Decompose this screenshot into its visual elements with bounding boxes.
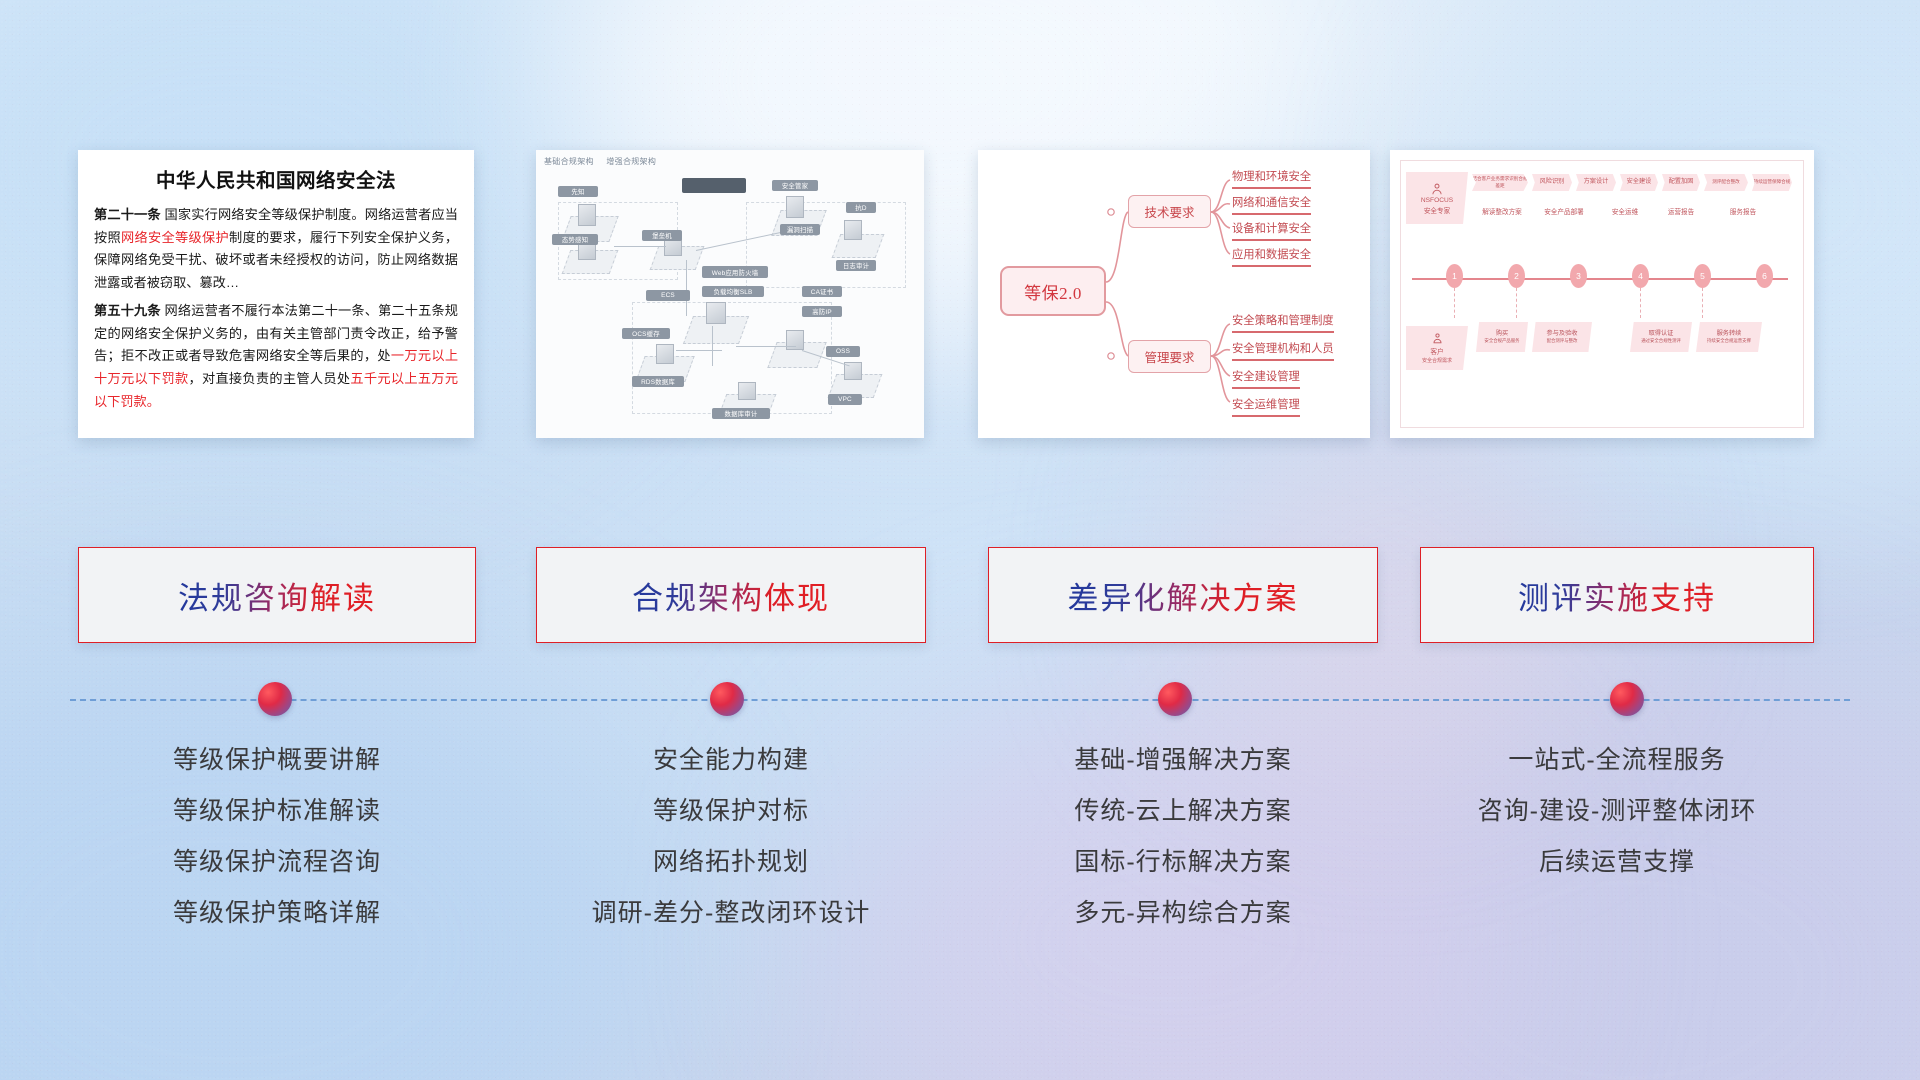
roadmap-stage-label: 解读整改方案 [1474,206,1530,216]
architecture-zone [746,202,906,288]
roadmap-bottom-tag-sub: 通过安全合规性测评 [1641,338,1681,344]
architecture-header-left: 基础合规架构 [544,157,594,166]
roadmap-expert-role: 安全专家 [1424,205,1450,215]
architecture-node: OSS [826,346,860,357]
architecture-node-icon [738,382,756,400]
timeline-dot-3[interactable] [1158,682,1192,716]
roadmap-expert-badge: NSFOCUS 安全专家 [1406,172,1468,224]
architecture-header-right: 增强合规架构 [606,157,656,166]
pillar-title-2: 合规架构体现 [632,573,830,618]
roadmap-expert-brand: NSFOCUS [1421,197,1453,204]
roadmap-chevron: 配置加固 [1662,174,1700,191]
law-article-21-label: 第二十一条 [94,207,161,222]
list-item: 等级保护策略详解 [78,901,476,926]
mindmap-branch-technical: 技术要求 [1128,195,1211,228]
architecture-node: Web应用防火墙 [702,266,768,278]
roadmap-bottom-tag-title: 取得认证 [1649,330,1674,339]
architecture-node: 安全管家 [772,180,818,191]
pillar-list-4: 一站式-全流程服务 咨询-建设-测评整体闭环 后续运营支撑 [1420,748,1814,901]
list-item: 调研-差分-整改闭环设计 [536,901,926,926]
architecture-node-icon [706,302,726,324]
pillar-title-box-3[interactable]: 差异化解决方案 [988,547,1378,643]
roadmap-step-number: 3 [1570,264,1587,288]
roadmap-chevron: 测评配合整改 [1704,174,1748,191]
roadmap-stage-label: 运营报告 [1658,206,1704,216]
list-item: 咨询-建设-测评整体闭环 [1420,799,1814,824]
roadmap-bottom-tag: 服务转续 持续安全合规运营支撑 [1696,322,1762,352]
timeline-dot-4[interactable] [1610,682,1644,716]
roadmap-step-number: 4 [1632,264,1649,288]
architecture-node: VPC [828,394,862,405]
roadmap-bottom-tag-title: 参与及验收 [1547,330,1578,339]
card-mindmap-dengbao[interactable]: 等保2.0 技术要求 管理要求 物理和环境安全 网络和通信安全 设备和计算安全 … [978,150,1370,438]
architecture-link [676,350,722,351]
roadmap-bottom-tag: 购买 安全合规产品服务 [1476,322,1528,352]
architecture-node: ECS [646,290,690,301]
architecture-node: 数据库审计 [712,408,770,419]
roadmap-connector [1516,288,1517,318]
roadmap-chevron: 安全建设 [1620,174,1658,191]
pillar-title-3: 差异化解决方案 [1068,573,1299,618]
roadmap-connector [1454,288,1455,318]
roadmap-step-number: 5 [1694,264,1711,288]
law-article-59: 第五十九条 网络运营者不履行本法第二十一条、第二十五条规定的网络安全保护义务的，… [94,300,458,414]
timeline-dot-1[interactable] [258,682,292,716]
pillar-title-4: 测评实施支持 [1518,573,1716,618]
roadmap-bottom-tag: 参与及验收 配合测评与整改 [1532,322,1592,352]
architecture-node: 高防IP [802,306,842,317]
roadmap-bottom-tag-sub: 持续安全合规运营支撑 [1707,338,1751,344]
roadmap-step-number: 2 [1508,264,1525,288]
architecture-link [736,346,796,347]
roadmap-chevron: 结合客户业务需求识别合规差距 [1472,174,1528,191]
timeline-dashed-line [70,699,1850,701]
list-item: 等级保护对标 [536,799,926,824]
architecture-node: RDS数据库 [632,376,684,387]
mindmap-leaf: 网络和通信安全 [1232,194,1311,215]
pillar-list-3: 基础-增强解决方案 传统-云上解决方案 国标-行标解决方案 多元-异构综合方案 [988,748,1378,952]
architecture-node: 堡垒机 [642,230,682,241]
architecture-node: 态势感知 [552,234,598,245]
architecture-node-icon [578,204,596,226]
mindmap-branch-management: 管理要求 [1128,340,1211,373]
law-article-59-label: 第五十九条 [94,303,161,318]
pillar-title-box-4[interactable]: 测评实施支持 [1420,547,1814,643]
architecture-node: OCS缓存 [622,328,670,339]
roadmap-bottom-tag-title: 服务转续 [1717,330,1742,339]
card-compliance-architecture[interactable]: 基础合规架构 增强合规架构 [536,150,924,438]
pillar-title-box-1[interactable]: 法规咨询解读 [78,547,476,643]
architecture-node-icon [844,220,862,240]
architecture-node: 先知 [558,186,598,197]
roadmap-customer-badge: 客户 安全合规需求 [1406,326,1468,370]
mindmap-leaf: 安全策略和管理制度 [1232,312,1334,333]
pillar-list-1: 等级保护概要讲解 等级保护标准解读 等级保护流程咨询 等级保护策略详解 [78,748,476,952]
roadmap-connector [1702,288,1703,318]
list-item: 后续运营支撑 [1420,850,1814,875]
person-icon [1430,182,1444,196]
law-card-body: 中华人民共和国网络安全法 第二十一条 国家实行网络安全等级保护制度。网络运营者应… [78,150,474,421]
roadmap-diagram: NSFOCUS 安全专家 结合客户业务需求识别合规差距 风险识别 方案设计 安全… [1390,150,1814,438]
architecture-node-icon [656,344,674,364]
architecture-node: 抗D [846,202,876,213]
architecture-node-icon [786,330,804,350]
architecture-node: 漏洞扫描 [780,224,820,235]
roadmap-chevron: 方案设计 [1576,174,1616,191]
list-item: 等级保护流程咨询 [78,850,476,875]
architecture-node: 负载均衡SLB [702,286,764,297]
slide-stage: 中华人民共和国网络安全法 第二十一条 国家实行网络安全等级保护制度。网络运营者应… [0,0,1920,1080]
pillar-list-2: 安全能力构建 等级保护对标 网络拓扑规划 调研-差分-整改闭环设计 [536,748,926,952]
roadmap-bottom-tag-sub: 配合测评与整改 [1547,338,1578,344]
roadmap-customer-label: 客户 [1430,346,1443,356]
roadmap-chevron: 风险识别 [1532,174,1572,191]
list-item: 等级保护概要讲解 [78,748,476,773]
list-item: 基础-增强解决方案 [988,748,1378,773]
roadmap-chevron: 持续运营保障合规 [1752,174,1792,191]
timeline [0,672,1920,732]
roadmap-timeline [1412,278,1788,280]
roadmap-bottom-tag-title: 购买 [1496,330,1508,339]
pillar-title-box-2[interactable]: 合规架构体现 [536,547,926,643]
mindmap-leaf: 安全建设管理 [1232,368,1300,389]
roadmap-connector [1640,288,1641,318]
roadmap-stage-label: 安全运维 [1602,206,1648,216]
card-nsfocus-roadmap[interactable]: NSFOCUS 安全专家 结合客户业务需求识别合规差距 风险识别 方案设计 安全… [1390,150,1814,438]
mindmap-leaf: 安全运维管理 [1232,396,1300,417]
list-item: 传统-云上解决方案 [988,799,1378,824]
law-article-21-highlight: 网络安全等级保护 [121,230,229,245]
mindmap-leaf: 设备和计算安全 [1232,220,1311,241]
architecture-link [686,260,687,316]
customer-icon [1431,332,1444,345]
mindmap-diagram: 等保2.0 技术要求 管理要求 物理和环境安全 网络和通信安全 设备和计算安全 … [978,150,1370,438]
roadmap-stage-label: 服务报告 [1720,206,1766,216]
timeline-dot-2[interactable] [710,682,744,716]
list-item: 等级保护标准解读 [78,799,476,824]
roadmap-stage-label: 安全产品部署 [1536,206,1592,216]
list-item: 国标-行标解决方案 [988,850,1378,875]
mindmap-leaf: 安全管理机构和人员 [1232,340,1334,361]
pillar-title-1: 法规咨询解读 [178,573,376,618]
architecture-diagram: 基础合规架构 增强合规架构 [536,150,924,438]
pillar-title-row: 法规咨询解读 合规架构体现 差异化解决方案 测评实施支持 [0,547,1920,645]
architecture-node: CA证书 [802,286,842,297]
law-article-21: 第二十一条 国家实行网络安全等级保护制度。网络运营者应当按照网络安全等级保护制度… [94,204,458,295]
roadmap-customer-sub: 安全合规需求 [1422,357,1452,364]
mindmap-leaf: 物理和环境安全 [1232,168,1311,189]
roadmap-step-number: 1 [1446,264,1463,288]
roadmap-step-number: 6 [1756,264,1773,288]
card-cybersecurity-law[interactable]: 中华人民共和国网络安全法 第二十一条 国家实行网络安全等级保护制度。网络运营者应… [78,150,474,438]
list-item: 安全能力构建 [536,748,926,773]
architecture-link [712,326,713,366]
roadmap-bottom-tag-sub: 安全合规产品服务 [1484,338,1519,344]
architecture-link [614,246,666,247]
mindmap-root: 等保2.0 [1000,266,1106,316]
roadmap-bottom-tag: 取得认证 通过安全合规性测评 [1630,322,1692,352]
list-item: 网络拓扑规划 [536,850,926,875]
reference-cards: 中华人民共和国网络安全法 第二十一条 国家实行网络安全等级保护制度。网络运营者应… [0,150,1920,440]
pillar-detail-row: 等级保护概要讲解 等级保护标准解读 等级保护流程咨询 等级保护策略详解 安全能力… [0,748,1920,978]
architecture-node: 日志审计 [836,260,876,271]
list-item: 一站式-全流程服务 [1420,748,1814,773]
law-title: 中华人民共和国网络安全法 [94,164,458,193]
list-item: 多元-异构综合方案 [988,901,1378,926]
law-article-59-text-b: ，对直接负责的主管人员处 [188,371,350,386]
architecture-title-chip [682,178,746,193]
architecture-node-icon [786,196,804,218]
architecture-header: 基础合规架构 增强合规架构 [544,156,656,167]
mindmap-leaf: 应用和数据安全 [1232,246,1311,267]
